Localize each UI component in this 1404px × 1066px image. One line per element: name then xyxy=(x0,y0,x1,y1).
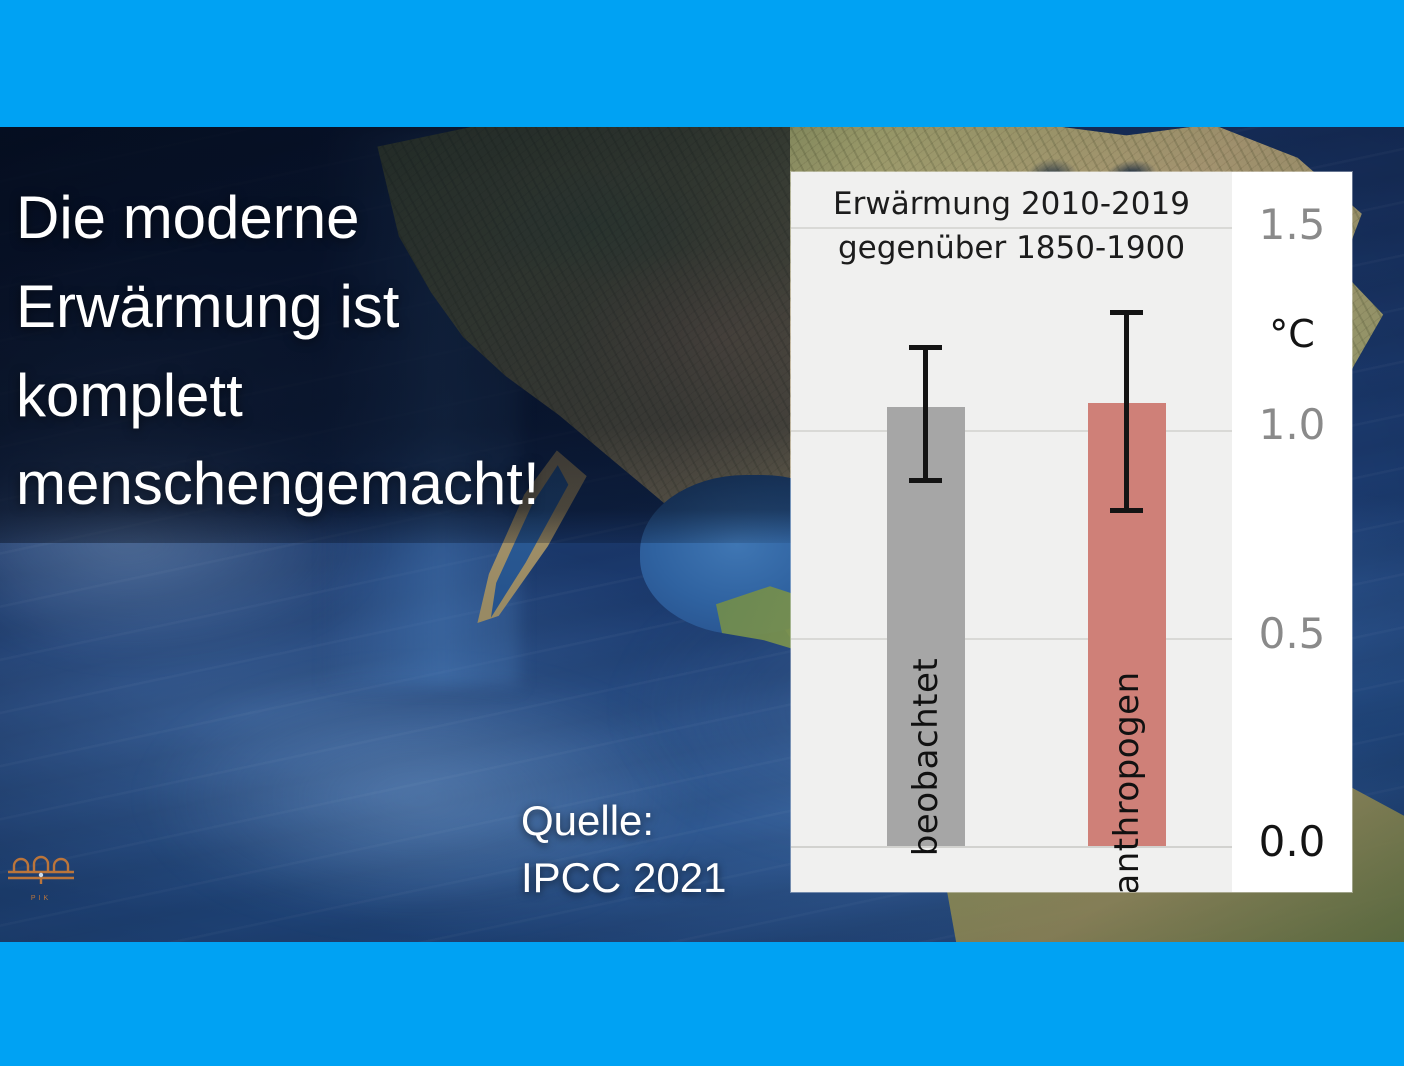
headline-line-2: Erwärmung ist xyxy=(16,263,736,352)
page-title: Die moderne Erwärmung ist komplett mensc… xyxy=(16,174,736,529)
y-axis-unit-label: °C xyxy=(1232,312,1352,356)
bottom-color-band xyxy=(0,942,1404,1066)
chart-plot-area: Erwärmung 2010-2019 gegenüber 1850-1900 … xyxy=(791,172,1232,892)
errorbar-anthropogen xyxy=(1124,310,1129,513)
headline-line-3: komplett xyxy=(16,352,736,441)
source-label: Quelle: xyxy=(521,793,726,850)
errorbar-cap-bottom-beobachtet xyxy=(909,478,942,483)
chart-title: Erwärmung 2010-2019 gegenüber 1850-1900 xyxy=(791,182,1232,270)
ytick-0-0: 0.0 xyxy=(1232,817,1352,866)
top-color-band xyxy=(0,0,1404,127)
ytick-1-0: 1.0 xyxy=(1232,400,1352,449)
bar-label-anthropogen: anthropogen xyxy=(1107,671,1147,892)
pik-logo-caption: PIK xyxy=(4,895,78,902)
errorbar-cap-top-anthropogen xyxy=(1110,310,1143,315)
slide: Die moderne Erwärmung ist komplett mensc… xyxy=(0,0,1404,1066)
errorbar-cap-bottom-anthropogen xyxy=(1110,508,1143,513)
chart-y-axis: 1.5 °C 1.0 0.5 0.0 xyxy=(1232,172,1352,892)
headline-line-4: menschengemacht! xyxy=(16,440,736,529)
errorbar-cap-top-beobachtet xyxy=(909,345,942,350)
source-caption: Quelle: IPCC 2021 xyxy=(521,793,726,906)
pik-logo: PIK xyxy=(4,848,78,900)
chart-title-line-1: Erwärmung 2010-2019 xyxy=(791,182,1232,226)
ytick-0-5: 0.5 xyxy=(1232,609,1352,658)
chart-title-line-2: gegenüber 1850-1900 xyxy=(791,226,1232,270)
headline-line-1: Die moderne xyxy=(16,174,736,263)
warming-bar-chart: Erwärmung 2010-2019 gegenüber 1850-1900 … xyxy=(791,172,1352,892)
ytick-1-5: 1.5 xyxy=(1232,200,1352,249)
errorbar-beobachtet xyxy=(923,345,928,483)
pik-logo-icon xyxy=(4,848,78,888)
bar-label-beobachtet: beobachtet xyxy=(906,658,946,857)
gridline-0-0 xyxy=(791,846,1232,848)
source-value: IPCC 2021 xyxy=(521,850,726,907)
